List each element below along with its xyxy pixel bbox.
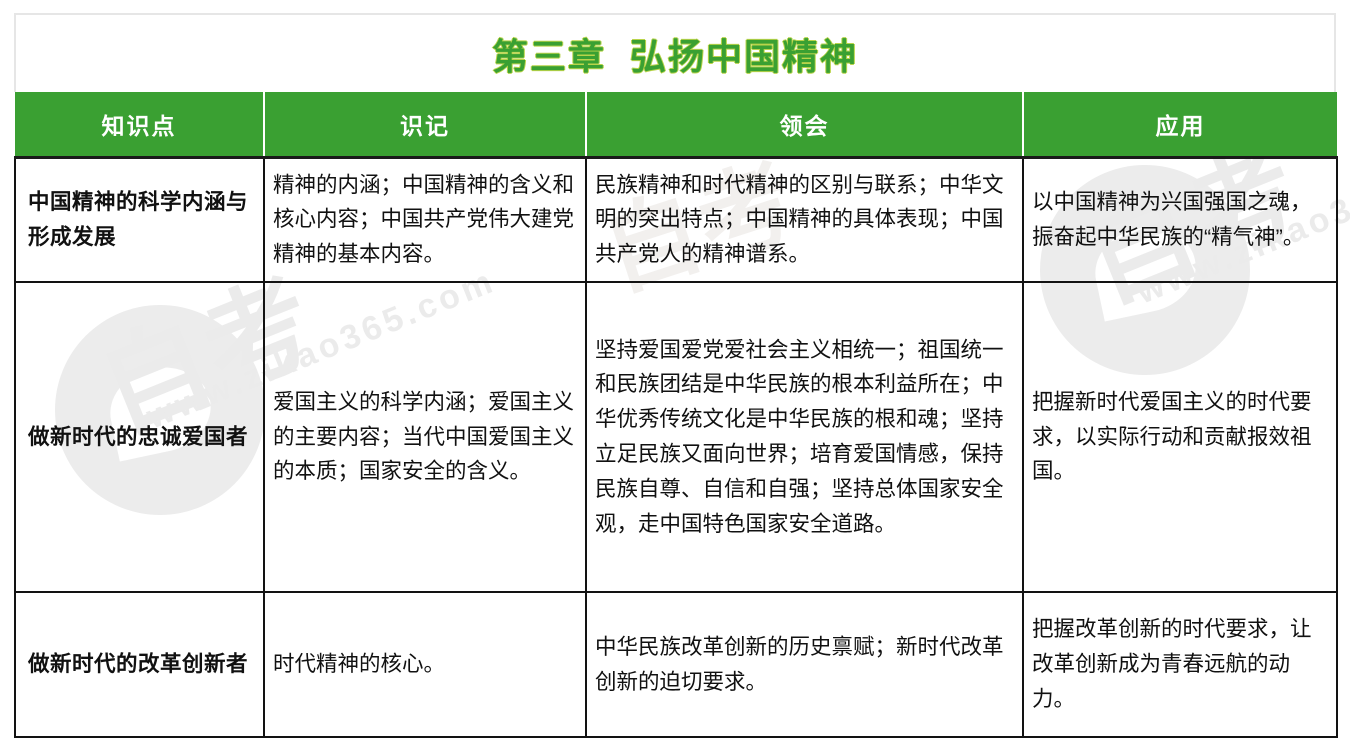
cell-topic: 做新时代的忠诚爱国者: [15, 282, 264, 592]
title-band: 第三章 弘扬中国精神: [14, 13, 1336, 92]
cell-recall: 时代精神的核心。: [264, 592, 586, 737]
cell-topic: 中国精神的科学内涵与形成发展: [15, 157, 264, 282]
cell-comprehension: 民族精神和时代精神的区别与联系；中华文明的突出特点；中国精神的具体表现；中国共产…: [586, 157, 1023, 282]
table-row: 中国精神的科学内涵与形成发展 精神的内涵；中国精神的含义和核心内容；中国共产党伟…: [15, 157, 1337, 282]
column-header-application: 应用: [1023, 92, 1337, 157]
page-title: 第三章 弘扬中国精神: [492, 28, 858, 80]
column-header-recall: 识记: [264, 92, 586, 157]
table-header-row: 知识点 识记 领会 应用: [15, 92, 1337, 157]
column-header-comprehension: 领会: [586, 92, 1023, 157]
cell-recall: 爱国主义的科学内涵；爱国主义的主要内容；当代中国爱国主义的本质；国家安全的含义。: [264, 282, 586, 592]
cell-application: 把握改革创新的时代要求，让改革创新成为青春远航的动力。: [1023, 592, 1337, 737]
knowledge-point-table: 知识点 识记 领会 应用 中国精神的科学内涵与形成发展 精神的内涵；中国精神的含…: [14, 92, 1338, 738]
table-row: 做新时代的改革创新者 时代精神的核心。 中华民族改革创新的历史禀赋；新时代改革创…: [15, 592, 1337, 737]
column-header-knowledge-point: 知识点: [15, 92, 264, 157]
cell-comprehension: 中华民族改革创新的历史禀赋；新时代改革创新的迫切要求。: [586, 592, 1023, 737]
cell-recall: 精神的内涵；中国精神的含义和核心内容；中国共产党伟大建党精神的基本内容。: [264, 157, 586, 282]
cell-topic: 做新时代的改革创新者: [15, 592, 264, 737]
table-row: 做新时代的忠诚爱国者 爱国主义的科学内涵；爱国主义的主要内容；当代中国爱国主义的…: [15, 282, 1337, 592]
cell-application: 把握新时代爱国主义的时代要求，以实际行动和贡献报效祖国。: [1023, 282, 1337, 592]
cell-comprehension: 坚持爱国爱党爱社会主义相统一；祖国统一和民族团结是中华民族的根本利益所在；中华优…: [586, 282, 1023, 592]
cell-application: 以中国精神为兴国强国之魂，振奋起中华民族的“精气神”。: [1023, 157, 1337, 282]
